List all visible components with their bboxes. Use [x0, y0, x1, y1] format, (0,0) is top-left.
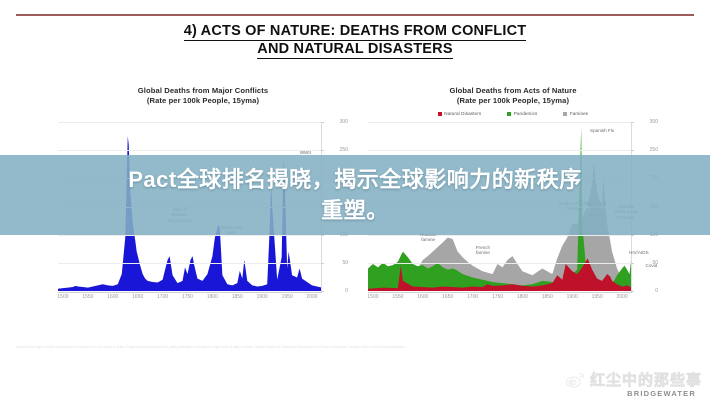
y-axis-tick-label: 0: [634, 288, 658, 294]
y-axis-tick-label: 300: [324, 119, 348, 125]
y-axis-tick-label: 0: [324, 288, 348, 294]
y-axis-tick-mark: [631, 150, 634, 151]
overlay-banner: Pact全球排名揭晓，揭示全球影响力的新秩序 重塑。: [0, 155, 710, 235]
gridline: [368, 122, 632, 123]
y-axis-tick-label: 300: [634, 119, 658, 125]
x-axis-tick-label: 1900: [257, 294, 268, 300]
chart-title-conflicts: Global Deaths from Major Conflicts (Rate…: [58, 86, 348, 106]
chart-title-acts-of-nature: Global Deaths from Acts of Nature (Rate …: [368, 86, 658, 106]
y-axis-tick-mark: [321, 263, 324, 264]
gridline: [368, 150, 632, 151]
x-axis-tick-label: 1650: [132, 294, 143, 300]
watermark-brand: BRIDGEWATER: [627, 389, 696, 398]
x-axis-tick-label: 1700: [157, 294, 168, 300]
header-rule: [16, 14, 694, 16]
legend-item-0[interactable]: Natural Disasters: [438, 111, 481, 116]
y-axis-tick-mark: [321, 150, 324, 151]
page-title-line-1: 4) ACTS OF NATURE: DEATHS FROM CONFLICT: [184, 23, 527, 41]
chart-legend-conflicts: [58, 109, 348, 118]
gridline: [58, 263, 322, 264]
weibo-icon: [565, 370, 585, 390]
page-title: 4) ACTS OF NATURE: DEATHS FROM CONFLICT …: [0, 22, 710, 58]
y-axis-tick-mark: [321, 291, 324, 292]
x-axis-tick-label: 1500: [367, 294, 378, 300]
legend-swatch-icon: [438, 112, 442, 116]
legend-label: Pandemics: [514, 111, 538, 116]
y-axis-tick-mark: [631, 122, 634, 123]
x-axis-conflicts: 1500155016001650170017501800185019001950…: [58, 292, 322, 305]
x-axis-tick-label: 1850: [232, 294, 243, 300]
x-axis-tick-label: 1550: [82, 294, 93, 300]
x-axis-tick-label: 1700: [467, 294, 478, 300]
watermark-text: 红尘中的那些事: [590, 369, 702, 390]
chart-annotation: Covid: [646, 263, 658, 269]
gridline: [58, 122, 322, 123]
y-axis-tick-label: 250: [634, 147, 658, 153]
x-axis-tick-label: 1500: [57, 294, 68, 300]
legend-label: Famines: [570, 111, 588, 116]
legend-item-1[interactable]: Pandemics: [507, 111, 537, 116]
x-axis-tick-label: 1750: [492, 294, 503, 300]
y-axis-tick-mark: [631, 291, 634, 292]
x-axis-acts-of-nature: 1500155016001650170017501800185019001950…: [368, 292, 632, 305]
y-axis-tick-label: 250: [324, 147, 348, 153]
chart-annotation: HIV/AIDS: [629, 250, 649, 256]
y-axis-tick-mark: [321, 122, 324, 123]
overlay-line-2: 重塑。: [321, 195, 389, 226]
x-axis-tick-label: 1750: [182, 294, 193, 300]
x-axis-tick-label: 1550: [392, 294, 403, 300]
overlay-line-1: Pact全球排名揭晓，揭示全球影响力的新秩序: [128, 164, 581, 195]
x-axis-tick-label: 1950: [282, 294, 293, 300]
legend-label: Natural Disasters: [444, 111, 481, 116]
x-axis-tick-label: 1600: [417, 294, 428, 300]
legend-swatch-icon: [507, 112, 511, 116]
x-axis-tick-label: 1600: [107, 294, 118, 300]
chart-title-conflicts-line-2: (Rate per 100k People, 15yma): [58, 96, 348, 106]
x-axis-tick-label: 1900: [567, 294, 578, 300]
chart-annotation: French famine: [476, 245, 490, 256]
chart-legend-acts-of-nature: Natural DisastersPandemicsFamines: [368, 109, 658, 118]
x-axis-tick-label: 2000: [306, 294, 317, 300]
y-axis-tick-label: 50: [324, 260, 348, 266]
x-axis-tick-label: 1800: [517, 294, 528, 300]
gridline: [368, 263, 632, 264]
x-axis-tick-label: 1650: [442, 294, 453, 300]
chart-annotation: Spanish Flu: [590, 128, 614, 134]
x-axis-tick-label: 2000: [616, 294, 627, 300]
y-axis-tick-mark: [631, 263, 634, 264]
slide-canvas: 4) ACTS OF NATURE: DEATHS FROM CONFLICT …: [0, 0, 710, 400]
x-axis-tick-label: 1800: [207, 294, 218, 300]
legend-item-2[interactable]: Famines: [563, 111, 588, 116]
x-axis-tick-label: 1950: [592, 294, 603, 300]
footnote: Deaths from major conflict data based on…: [16, 345, 486, 350]
watermark: 红尘中的那些事: [565, 369, 702, 390]
chart-title-nature-line-1: Global Deaths from Acts of Nature: [368, 86, 658, 96]
page-title-line-2: AND NATURAL DISASTERS: [257, 41, 452, 59]
x-axis-tick-label: 1850: [542, 294, 553, 300]
chart-title-nature-line-2: (Rate per 100k People, 15yma): [368, 96, 658, 106]
chart-title-conflicts-line-1: Global Deaths from Major Conflicts: [58, 86, 348, 96]
gridline: [58, 150, 322, 151]
legend-swatch-icon: [563, 112, 567, 116]
